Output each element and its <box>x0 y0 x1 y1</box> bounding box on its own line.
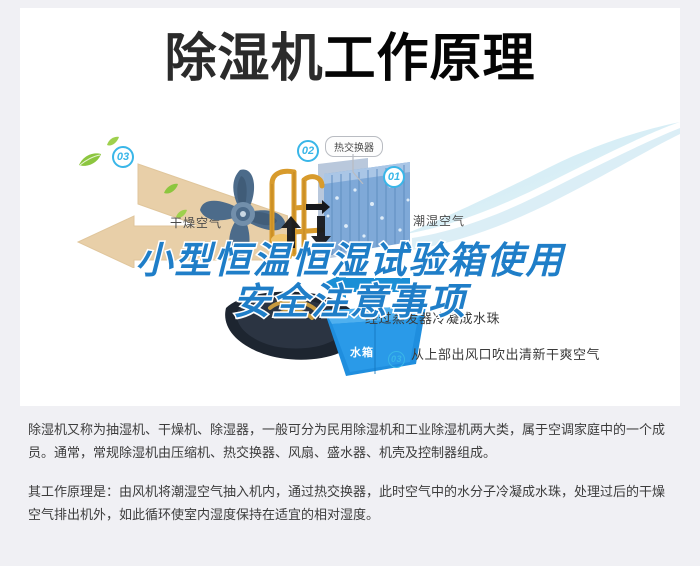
badge-step-03-inline: 03 <box>388 351 405 368</box>
label-humid-air: 潮湿空气 <box>413 212 465 229</box>
leaf-icon <box>78 152 102 173</box>
page-root: 除湿机工作原理 <box>0 0 700 566</box>
body-copy: 除湿机又称为抽湿机、干燥机、除湿器，一般可分为民用除湿机和工业除湿机两大类，属于… <box>28 418 676 526</box>
step-line-02: 经过蒸发器冷凝成水珠 <box>365 308 500 327</box>
infographic-panel: 除湿机工作原理 <box>20 8 680 406</box>
title-part-1: 除湿机 <box>164 30 323 88</box>
step-line-03: 03从上部出风口吹出清新干爽空气 <box>388 344 600 368</box>
heat-exchanger-label: 热交换器 <box>334 143 374 154</box>
step-03-text: 从上部出风口吹出清新干爽空气 <box>411 347 600 362</box>
infographic-title: 除湿机工作原理 <box>20 30 680 88</box>
label-water-tank: 水箱 <box>350 344 374 360</box>
diagram-stage: 干燥空气 潮湿空气 <box>20 128 680 406</box>
leaf-icon <box>163 182 179 200</box>
paragraph-1: 除湿机又称为抽湿机、干燥机、除湿器，一般可分为民用除湿机和工业除湿机两大类，属于… <box>28 418 676 464</box>
leaf-icon <box>175 206 188 224</box>
step-02-text: 经过蒸发器冷凝成水珠 <box>365 311 500 326</box>
paragraph-2: 其工作原理是：由风机将潮湿空气抽入机内，通过热交换器，此时空气中的水分子冷凝成水… <box>28 480 676 526</box>
callout-pointer-icon <box>350 154 376 184</box>
title-part-2: 工作原理 <box>324 30 536 88</box>
airflow-inlet-arrow-icon <box>320 272 410 298</box>
badge-step-02: 02 <box>297 140 319 162</box>
badge-step-03: 03 <box>112 146 134 168</box>
badge-step-01: 01 <box>383 166 405 188</box>
